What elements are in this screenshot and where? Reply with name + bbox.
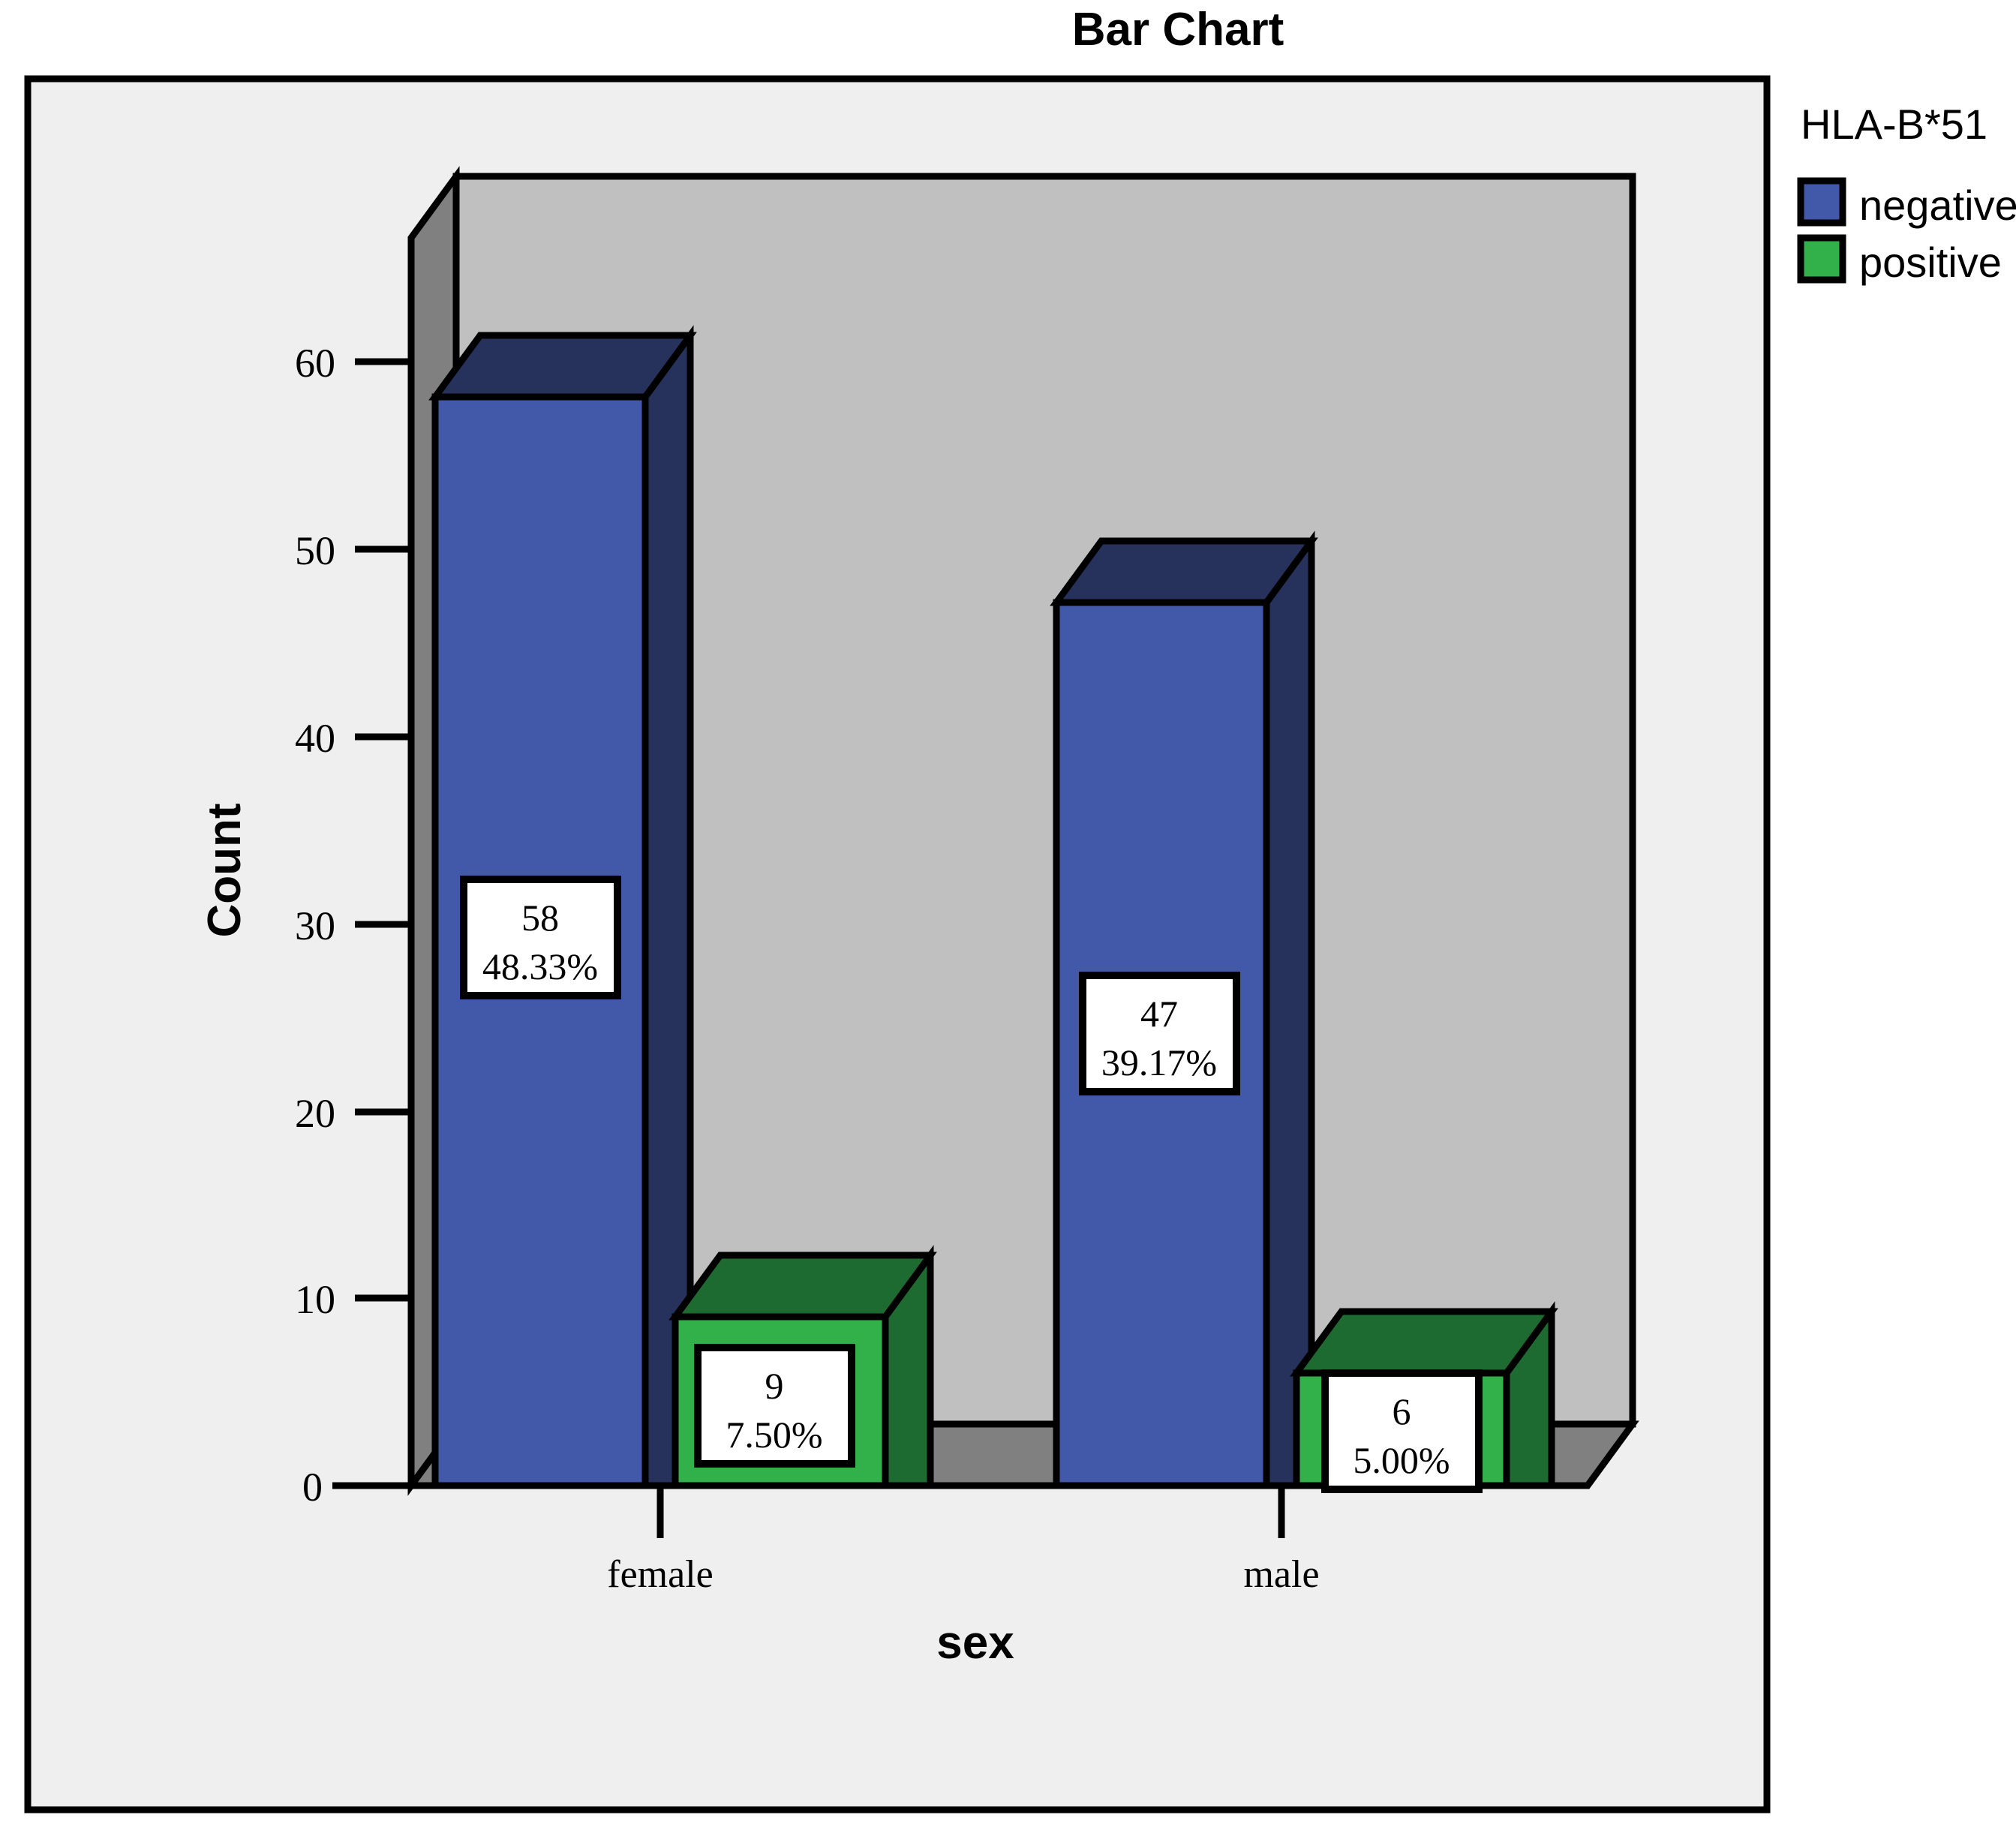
y-axis-title: Count xyxy=(199,803,251,937)
data-label-percent: 5.00% xyxy=(1353,1439,1450,1481)
y-tick-label-50: 50 xyxy=(295,528,335,573)
y-tick-label-10: 10 xyxy=(295,1277,335,1322)
legend-swatch-positive[interactable] xyxy=(1801,238,1843,280)
chart-canvas: Bar Chart xyxy=(0,0,2016,1827)
bar-top-face xyxy=(435,335,690,397)
bar-top-face xyxy=(1296,1312,1552,1373)
data-label-percent: 39.17% xyxy=(1101,1041,1217,1083)
data-label-count: 6 xyxy=(1393,1390,1411,1432)
data-label-percent: 7.50% xyxy=(726,1414,822,1456)
data-label-count: 58 xyxy=(521,897,559,939)
data-label-female-positive: 9 7.50% xyxy=(698,1348,852,1464)
x-tick-label-female: female xyxy=(607,1553,713,1596)
data-label-male-positive: 6 5.00% xyxy=(1325,1373,1479,1489)
y-tick-label-60: 60 xyxy=(295,341,335,386)
legend-title: HLA-B*51 xyxy=(1801,101,1987,148)
legend-label-positive: positive xyxy=(1859,239,2002,286)
legend: HLA-B*51 negative positive xyxy=(1801,101,2016,286)
data-label-male-negative: 47 39.17% xyxy=(1083,975,1236,1092)
data-label-count: 47 xyxy=(1140,993,1178,1035)
y-tick-label-0: 0 xyxy=(302,1465,323,1510)
y-tick-label-20: 20 xyxy=(295,1091,335,1136)
y-tick-label-40: 40 xyxy=(295,716,335,761)
legend-item-negative[interactable]: negative xyxy=(1801,181,2016,229)
y-tick-label-30: 30 xyxy=(295,903,335,948)
bar-side-face xyxy=(1266,541,1311,1486)
bar-chart-figure: Bar Chart xyxy=(0,0,2016,1827)
legend-item-positive[interactable]: positive xyxy=(1801,238,2002,286)
x-tick-label-male: male xyxy=(1243,1553,1319,1596)
data-label-percent: 48.33% xyxy=(482,945,598,987)
page-title: Bar Chart xyxy=(1072,4,1284,56)
data-label-count: 9 xyxy=(765,1365,784,1407)
bar-top-face xyxy=(675,1255,930,1317)
bar-top-face xyxy=(1056,541,1311,602)
legend-label-negative: negative xyxy=(1859,182,2016,229)
legend-swatch-negative[interactable] xyxy=(1801,181,1843,223)
x-axis-title: sex xyxy=(936,1617,1014,1669)
data-label-female-negative: 58 48.33% xyxy=(464,879,617,996)
